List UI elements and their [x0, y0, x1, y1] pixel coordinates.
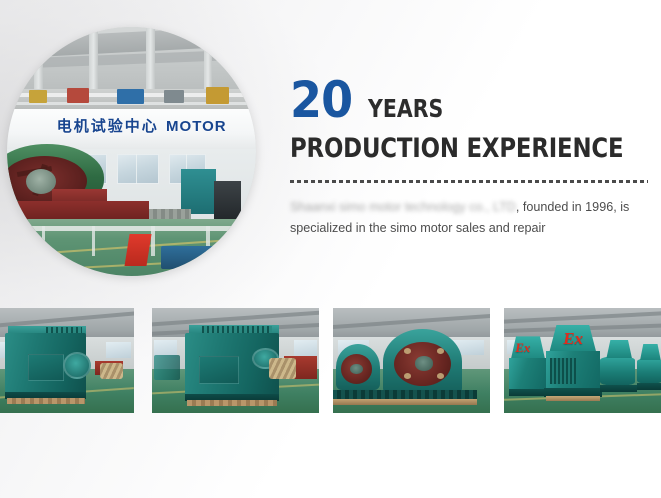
safety-guardrail — [12, 226, 251, 230]
dashed-divider — [290, 180, 648, 183]
ex-motor-cylinder-far — [637, 358, 661, 383]
teal-control-cabinet — [181, 169, 216, 214]
sign-chinese: 电机试验中心 — [57, 117, 159, 135]
dark-cabinet — [214, 181, 241, 218]
product-thumbnail-strip: Ex Ex — [0, 308, 661, 413]
ex-motor-skid-main — [546, 396, 600, 401]
ex-motor-hood-right — [606, 340, 632, 359]
workshop-window — [106, 342, 131, 359]
red-test-bed — [7, 201, 149, 220]
guardrail-post — [92, 226, 95, 256]
ex-marking-main: Ex — [563, 330, 583, 347]
thumbnail-2[interactable] — [152, 308, 319, 413]
motor-access-panel — [28, 354, 64, 381]
window-mullion — [136, 154, 137, 184]
generator-hub-small — [350, 364, 363, 375]
hero-circle-photo: 电机试验中心 MOTOR — [7, 27, 256, 276]
mezzanine-equipment — [67, 88, 89, 103]
company-description: Shaanxi simo motor technology co., LTD, … — [290, 197, 650, 239]
redacted-company-name: Shaanxi simo motor technology co., LTD — [290, 200, 516, 214]
ex-motor-cylinder-right — [600, 356, 635, 385]
mezzanine-equipment — [117, 89, 144, 104]
motor-access-panel — [199, 356, 239, 383]
wooden-pallet — [187, 400, 277, 405]
ex-motor-base-far — [637, 383, 661, 390]
ex-motor-hood-far — [640, 344, 661, 361]
background-coil — [100, 363, 122, 380]
red-floor-marker — [124, 234, 152, 266]
blue-equipment-cart — [161, 246, 216, 268]
guardrail-post — [151, 226, 154, 256]
thumbnail-1[interactable] — [0, 308, 134, 413]
ex-marking-left: Ex — [515, 341, 530, 354]
generator-skid — [333, 399, 477, 404]
guardrail-post — [42, 226, 45, 256]
mezzanine-equipment — [29, 90, 46, 102]
headline-copy-block: 20 YEARS PRODUCTION EXPERIENCE Shaanxi s… — [290, 74, 652, 239]
workshop-sign-text: 电机试验中心 MOTOR — [57, 115, 256, 136]
sign-english: MOTOR — [166, 118, 227, 135]
description-line-2: specialized in the simo motor sales and … — [290, 221, 546, 235]
ex-motor-base-right — [600, 385, 637, 392]
wooden-pallet — [7, 398, 85, 403]
mezzanine-equipment — [164, 90, 184, 102]
mezzanine-equipment — [206, 87, 228, 104]
hero-photo-inner: 电机试验中心 MOTOR — [7, 27, 256, 276]
thumbnail-3[interactable] — [333, 308, 490, 413]
thumbnail-4[interactable]: Ex Ex — [504, 308, 661, 413]
description-tail: , founded in 1996, is — [516, 200, 629, 214]
years-number: 20 — [290, 74, 352, 126]
ex-motor-body-left — [509, 358, 547, 390]
motor-shaft-ring — [63, 352, 91, 379]
headline-years-row: 20 YEARS — [290, 74, 652, 128]
motor-winding-coil — [269, 358, 296, 379]
background-motor — [154, 355, 181, 380]
headline-subline: PRODUCTION EXPERIENCE — [290, 133, 596, 165]
years-label: YEARS — [368, 95, 443, 123]
workshop-window — [117, 154, 159, 184]
ex-motor-base-left — [509, 389, 547, 396]
ex-motor-cooling-fins — [550, 358, 576, 383]
